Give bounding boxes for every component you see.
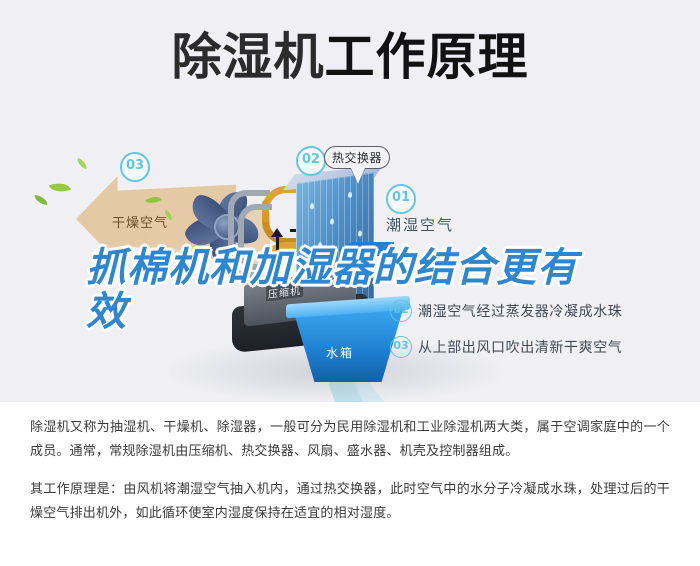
body-paragraph-2: 其工作原理是：由风机将潮湿空气抽入机内，通过热交换器，此时空气中的水分子冷凝成水… bbox=[30, 478, 670, 526]
heat-exchanger-callout: 热交换器 bbox=[324, 146, 390, 169]
page-title-part2: 工作原理 bbox=[325, 28, 529, 86]
body-paragraph-1: 除湿机又称为抽湿机、干燥机、除湿器，一般可分为民用除湿机和工业除湿机两大类，属于… bbox=[30, 416, 670, 464]
badge-02: 02 bbox=[296, 146, 326, 176]
infographic-page: 除湿机工作原理 干燥空气 bbox=[0, 0, 700, 566]
humid-air-label: 潮湿空气 bbox=[386, 214, 454, 235]
leaf-icon bbox=[33, 195, 48, 205]
badge-03: 03 bbox=[120, 152, 150, 182]
article-body: 除湿机又称为抽湿机、干燥机、除湿器，一般可分为民用除湿机和工业除湿机两大类，属于… bbox=[0, 402, 700, 566]
flow-arrow-up-icon bbox=[271, 228, 283, 237]
overlay-headline: 抓棉机和加湿器的结合更有效 bbox=[86, 246, 606, 334]
legend-item: 03 从上部出风口吹出清新干爽空气 bbox=[390, 336, 690, 358]
dry-air-label: 干燥空气 bbox=[112, 212, 168, 231]
page-title-part1: 除湿机 bbox=[172, 28, 325, 86]
leaf-icon bbox=[49, 179, 71, 196]
badge-01: 01 bbox=[386, 184, 416, 214]
legend-badge-03: 03 bbox=[390, 336, 412, 358]
legend-text-03: 从上部出风口吹出清新干爽空气 bbox=[418, 337, 622, 357]
water-tank-label: 水箱 bbox=[326, 344, 354, 361]
infographic-hero-panel: 除湿机工作原理 干燥空气 bbox=[0, 0, 700, 402]
leaf-icon bbox=[75, 158, 89, 169]
